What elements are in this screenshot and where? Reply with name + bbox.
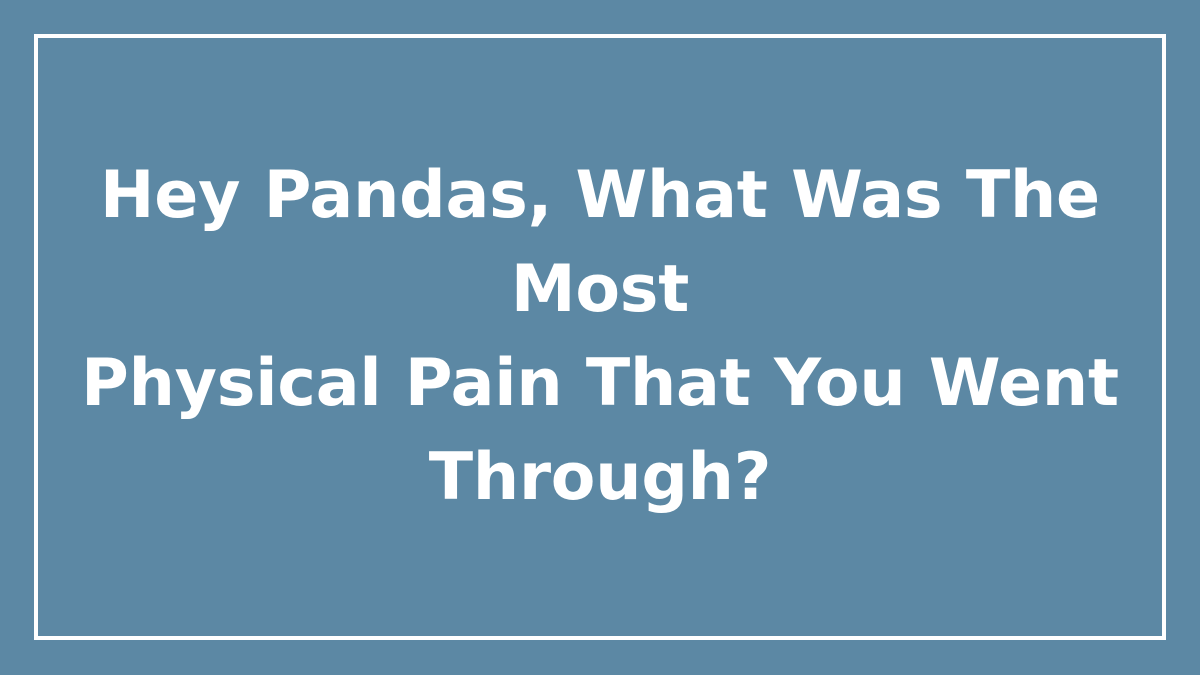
- page-title: Hey Pandas, What Was The Most Physical P…: [78, 149, 1122, 525]
- title-card: Hey Pandas, What Was The Most Physical P…: [0, 0, 1200, 675]
- headline-container: Hey Pandas, What Was The Most Physical P…: [34, 34, 1166, 640]
